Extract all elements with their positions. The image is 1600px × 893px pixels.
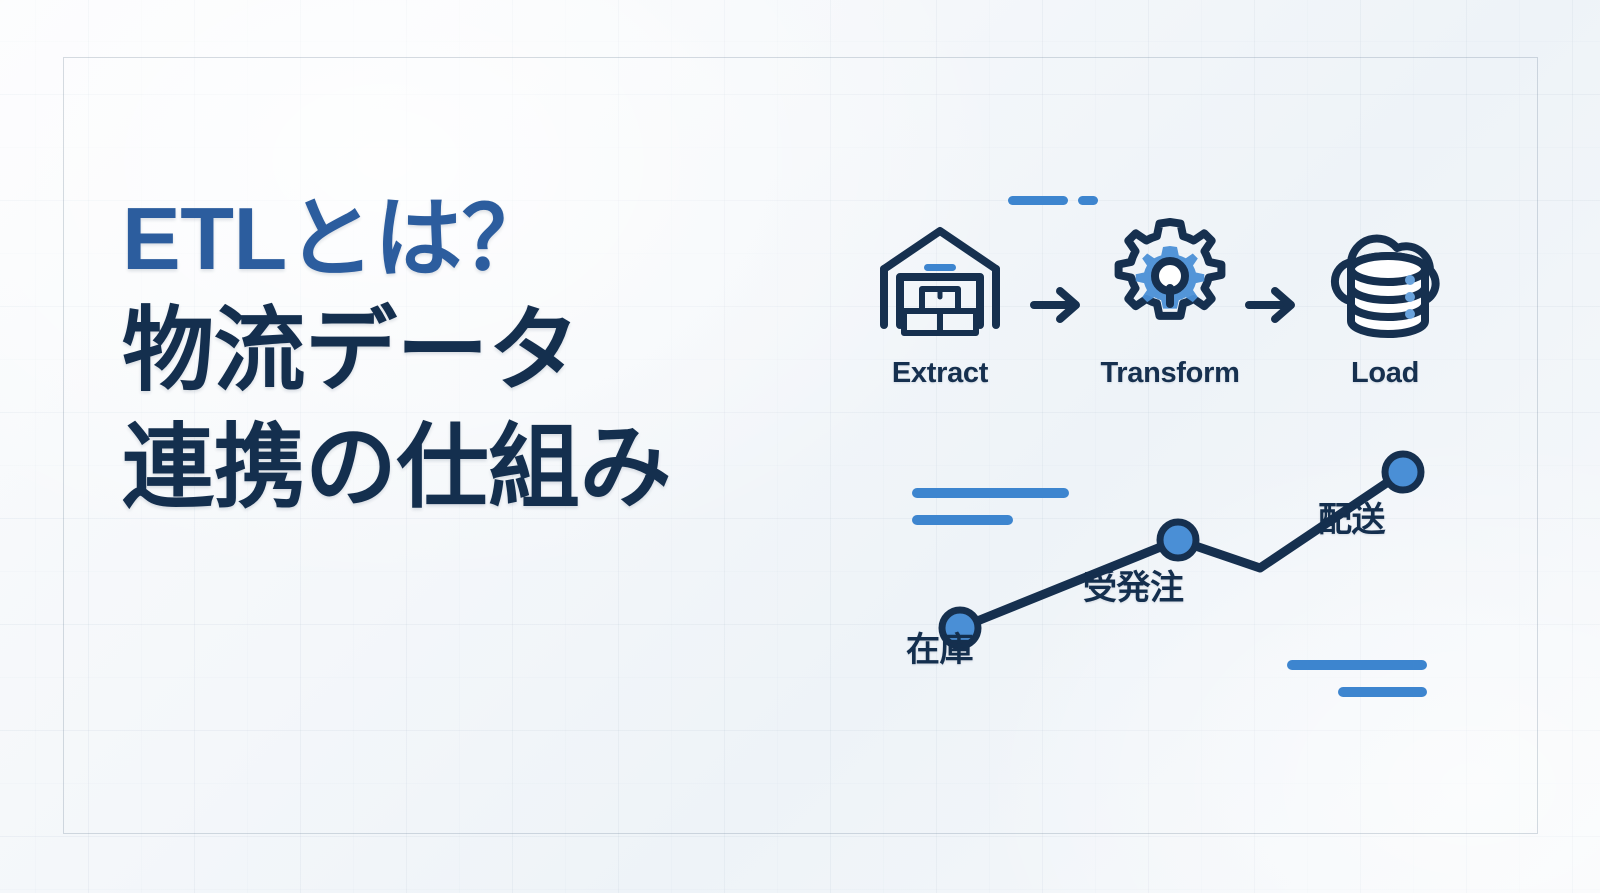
trend-label-zaiko: 在庫 (906, 622, 973, 671)
warehouse-icon (850, 205, 1030, 355)
pipeline-stage-label-load: Load (1295, 357, 1475, 390)
illustration-block: Extract (840, 150, 1520, 730)
trend-marker-haiso (1385, 454, 1421, 490)
cloud-database-icon (1295, 205, 1475, 355)
gear-icon (1080, 205, 1260, 355)
pipeline-stage-extract: Extract (850, 205, 1030, 390)
headline-line-2: 物流データ (122, 298, 842, 405)
headline-line-3: 連携の仕組み (122, 415, 842, 522)
headline-block: ETLとは？ 物流データ 連携の仕組み (122, 188, 842, 522)
pipeline-stage-load: Load (1295, 205, 1475, 390)
trend-label-haiso: 配送 (1318, 492, 1385, 541)
pipeline-stage-label-extract: Extract (850, 357, 1030, 390)
pipeline-stage-transform: Transform (1080, 205, 1260, 390)
arrow-right-icon (1030, 285, 1086, 330)
trend-marker-juhachu (1160, 522, 1196, 558)
arrow-right-icon (1245, 285, 1301, 330)
decorative-bar-top-long (1008, 196, 1068, 205)
trend-line-chart: 在庫 受発注 配送 (840, 400, 1520, 700)
decorative-bar-top-short (1078, 196, 1098, 205)
pipeline-stage-label-transform: Transform (1080, 357, 1260, 390)
headline-line-1: ETLとは？ (122, 188, 842, 290)
hero-banner: ETLとは？ 物流データ 連携の仕組み (0, 0, 1600, 893)
trend-label-juhachu: 受発注 (1083, 560, 1184, 609)
